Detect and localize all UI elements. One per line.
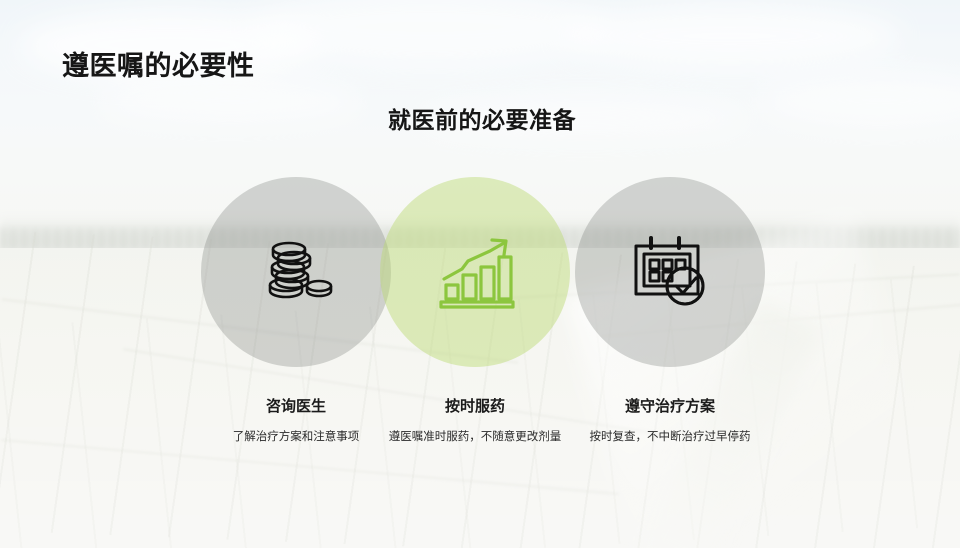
card-title: 咨询医生	[206, 398, 386, 417]
card-title: 遵守治疗方案	[560, 398, 780, 417]
icon-circle-take-medicine-on-time[interactable]	[380, 177, 570, 367]
card-caption-follow-treatment-plan: 遵守治疗方案 按时复查，不中断治疗过早停药	[560, 398, 780, 447]
card-caption-take-medicine-on-time: 按时服药 遵医嘱准时服药，不随意更改剂量	[381, 398, 569, 447]
icon-circle-group	[0, 0, 960, 548]
growth-bar-chart-icon	[432, 229, 518, 315]
card-description: 按时复查，不中断治疗过早停药	[560, 429, 780, 447]
card-title: 按时服药	[381, 398, 569, 417]
coin-stack-icon	[256, 232, 336, 312]
card-description: 遵医嘱准时服药，不随意更改剂量	[381, 429, 569, 447]
calendar-check-icon	[627, 229, 713, 315]
card-description: 了解治疗方案和注意事项	[206, 429, 386, 447]
icon-circle-consult-doctor[interactable]	[201, 177, 391, 367]
presentation-slide: 遵医嘱的必要性 就医前的必要准备	[0, 0, 960, 548]
icon-circle-follow-treatment-plan[interactable]	[575, 177, 765, 367]
card-caption-consult-doctor: 咨询医生 了解治疗方案和注意事项	[206, 398, 386, 447]
